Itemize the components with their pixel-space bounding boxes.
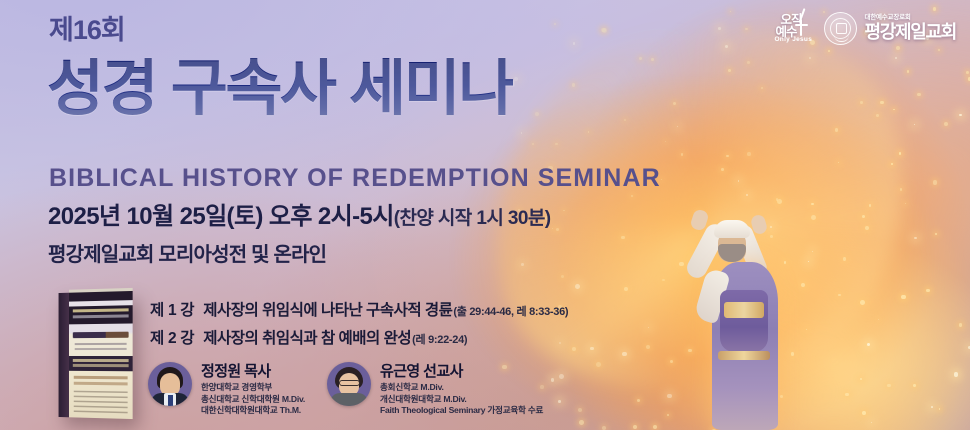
seminar-poster: 오직 예수 Only Jesus 대한예수교장로회 평강제일교회 제16회 성경… — [0, 0, 970, 430]
poster-content: 제16회 성경 구속사 세미나 BIBLICAL HISTORY OF REDE… — [0, 0, 970, 430]
speaker-name: 정정원 목사 — [201, 363, 305, 380]
speaker-credential: 총회신학교 M.Div. — [380, 382, 543, 393]
lecture-item: 제 1 강 제사장의 위임식에 나타난 구속사적 경륜 (출 29:44-46,… — [150, 298, 568, 320]
speaker-credential: Faith Theological Seminary 가정교육학 수료 — [380, 405, 543, 416]
speaker-item: 유근영 선교사 총회신학교 M.Div. 개신대학원대학교 M.Div. Fai… — [327, 362, 543, 416]
edition-number: 제16회 — [49, 17, 125, 44]
avatar — [327, 362, 371, 406]
speaker-list: 정정원 목사 한양대학교 경영학부 총신대학교 신학대학원 M.Div. 대한신… — [148, 362, 543, 416]
speaker-item: 정정원 목사 한양대학교 경영학부 총신대학교 신학대학원 M.Div. 대한신… — [148, 362, 305, 416]
lecture-title: 제사장의 취임식과 참 예배의 완성 — [203, 326, 411, 348]
lecture-list: 제 1 강 제사장의 위임식에 나타난 구속사적 경륜 (출 29:44-46,… — [150, 298, 568, 354]
speaker-credential: 한양대학교 경영학부 — [201, 382, 305, 393]
lecture-number: 제 2 강 — [150, 326, 194, 348]
avatar — [148, 362, 192, 406]
speaker-credential: 대한신학대학원대학교 Th.M. — [201, 405, 305, 416]
speaker-name: 유근영 선교사 — [380, 363, 543, 380]
venue-text: 평강제일교회 모리아성전 및 온라인 — [48, 238, 326, 267]
page-title: 성경 구속사 세미나 — [47, 58, 513, 120]
datetime-main: 2025년 10월 25일(토) 오후 2시-5시 — [48, 203, 394, 230]
lecture-scripture-ref: (출 29:44-46, 레 8:33-36) — [453, 303, 568, 319]
datetime-note: (찬양 시작 1시 30분) — [394, 208, 551, 229]
lecture-scripture-ref: (레 9:22-24) — [412, 331, 467, 347]
lecture-title: 제사장의 위임식에 나타난 구속사적 경륜 — [203, 298, 452, 320]
book-cover-image — [59, 291, 133, 419]
lecture-item: 제 2 강 제사장의 취임식과 참 예배의 완성 (레 9:22-24) — [150, 326, 568, 348]
speaker-credential: 총신대학교 신학대학원 M.Div. — [201, 394, 305, 405]
datetime-line: 2025년 10월 25일(토) 오후 2시-5시(찬양 시작 1시 30분) — [48, 205, 550, 229]
subtitle-english: BIBLICAL HISTORY OF REDEMPTION SEMINAR — [49, 164, 661, 193]
speaker-credential: 개신대학원대학교 M.Div. — [380, 394, 543, 405]
lecture-number: 제 1 강 — [150, 298, 194, 320]
